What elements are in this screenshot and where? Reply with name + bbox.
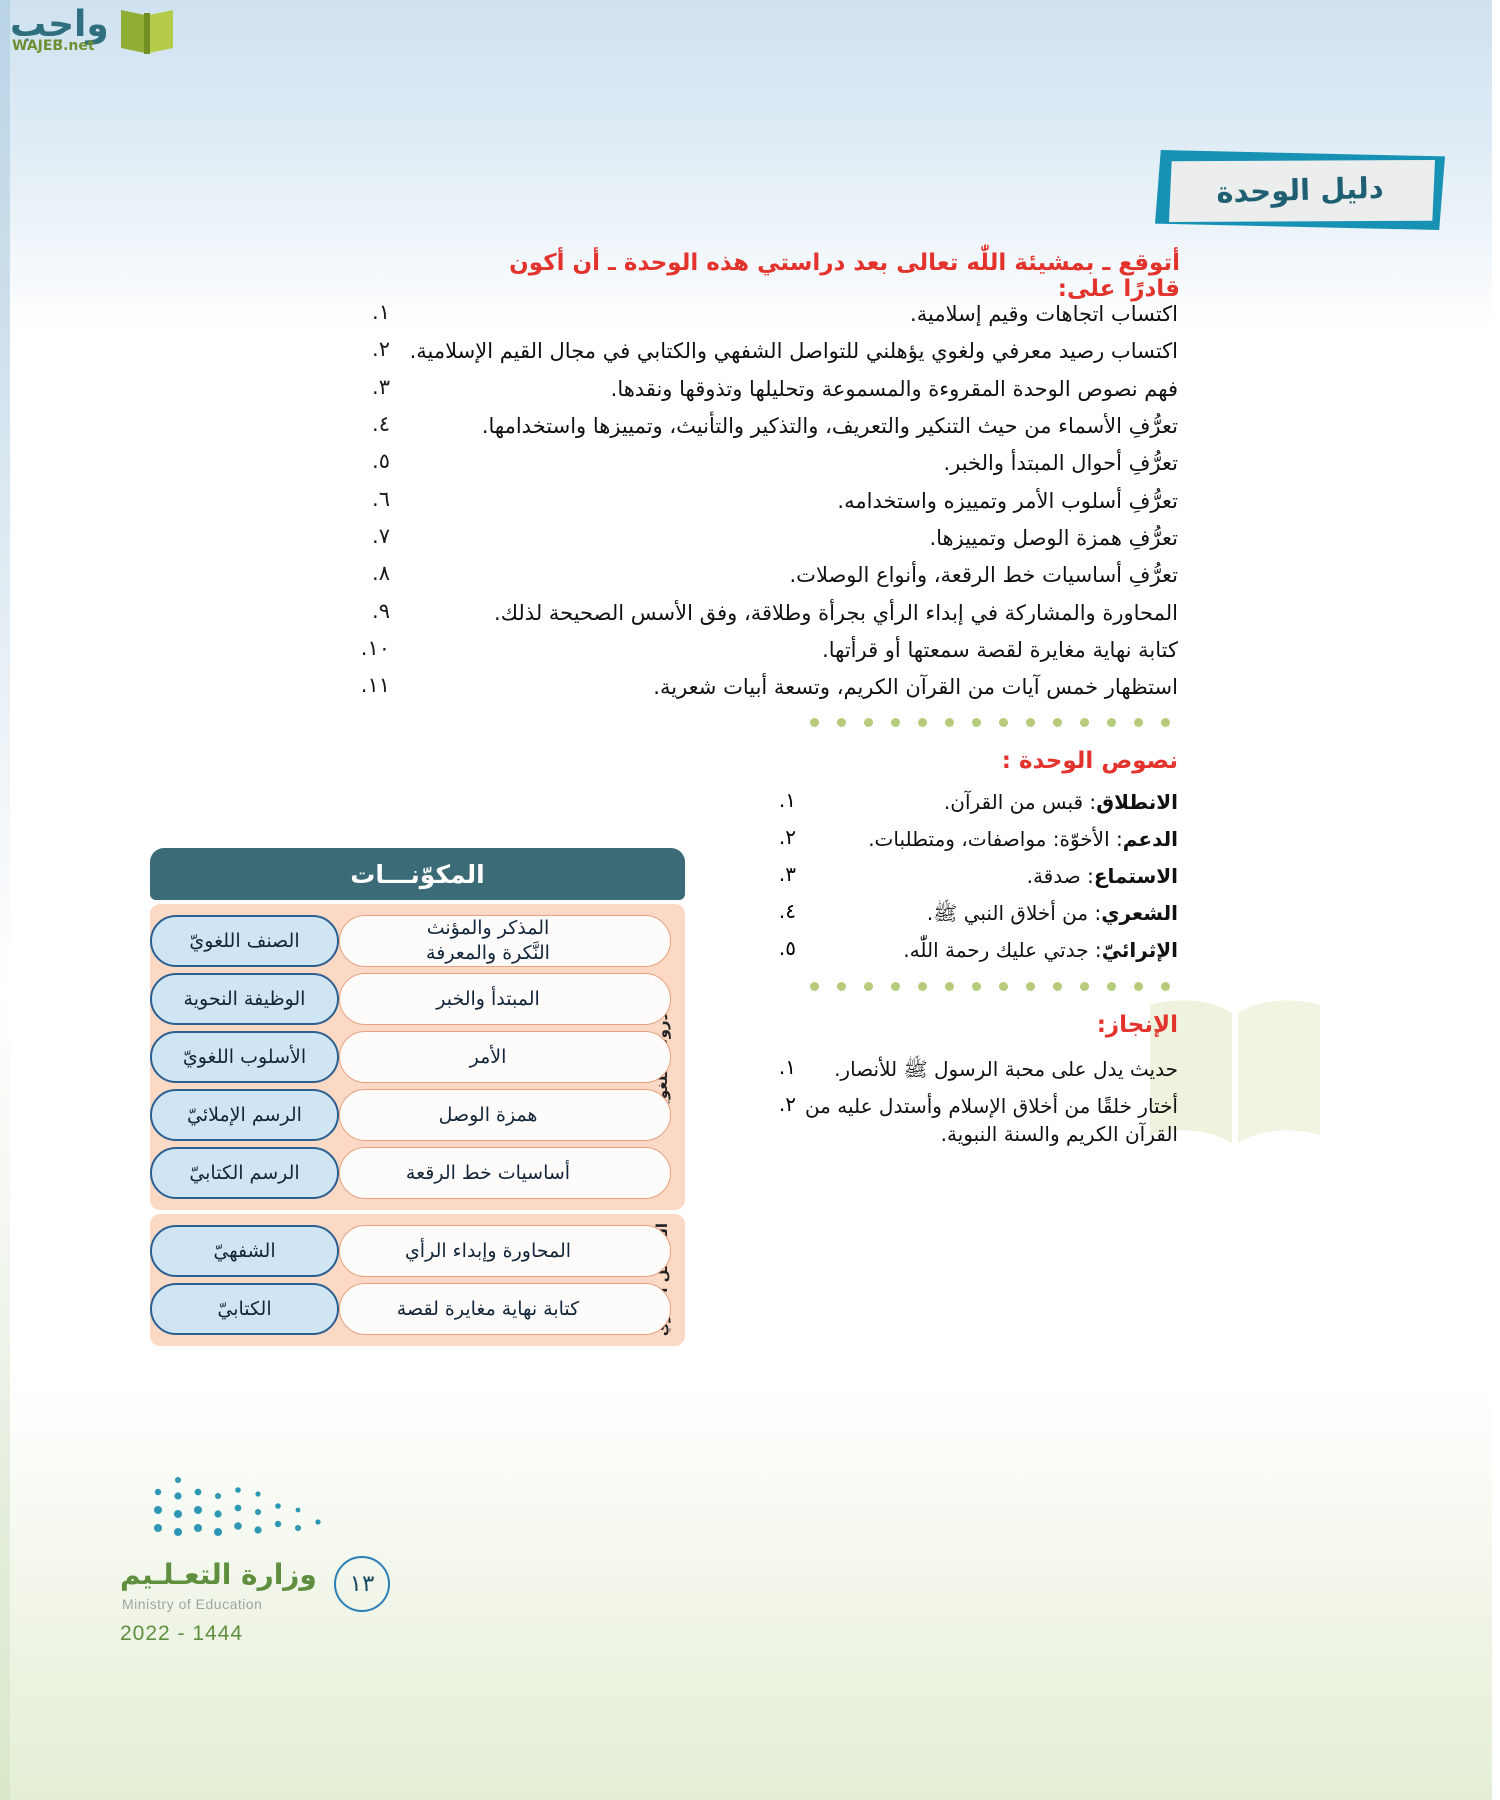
components-table-row: الصنف اللغويّالمذكر والمؤنثالنَّكرة والم… xyxy=(150,915,643,967)
component-detail-lines: أساسيات خط الرقعة xyxy=(406,1161,570,1186)
divider-dot xyxy=(1107,718,1116,727)
unit-text-number: ٢. xyxy=(758,825,796,849)
component-detail-line: المحاورة وإبداء الرأي xyxy=(405,1239,571,1264)
component-name-pill: الأسلوب اللغويّ xyxy=(150,1031,339,1083)
components-table-row: الشفهيّالمحاورة وإبداء الرأي xyxy=(150,1225,643,1277)
component-name-pill: الكتابيّ xyxy=(150,1283,339,1335)
unit-text-number: ٤. xyxy=(758,899,796,923)
component-detail-lines: كتابة نهاية مغايرة لقصة xyxy=(397,1297,579,1322)
divider-dot xyxy=(891,982,900,991)
achievement-text: أختار خلقًا من أخلاق الإسلام وأستدل عليه… xyxy=(796,1092,1178,1148)
components-group-rows: الصنف اللغويّالمذكر والمؤنثالنَّكرة والم… xyxy=(150,904,685,1210)
component-name-pill: الوظيفة النحوية xyxy=(150,973,339,1025)
components-group-rows: الشفهيّالمحاورة وإبداء الرأيالكتابيّكتاب… xyxy=(150,1214,685,1346)
divider-dot xyxy=(1161,982,1170,991)
divider-dot xyxy=(810,982,819,991)
objective-item: ٣.فهم نصوص الوحدة المقروءة والمسموعة وتح… xyxy=(348,375,1178,403)
wajeb-watermark-logo: واجب WAJEB.net xyxy=(0,0,185,62)
objective-text: اكتساب اتجاهات وقيم إسلامية. xyxy=(390,300,1178,328)
unit-guide-banner: دليل الوحدة xyxy=(1155,150,1445,230)
component-detail-lines: الأمر xyxy=(470,1045,507,1070)
unit-texts-list: ١.الانطلاق: قبس من القرآن.٢.الدعم: الأخو… xyxy=(758,788,1178,973)
divider-dot xyxy=(1026,982,1035,991)
divider-dot xyxy=(972,982,981,991)
ministry-name-arabic: وزارة التعـلـيم xyxy=(120,1558,317,1591)
component-detail-line: أساسيات خط الرقعة xyxy=(406,1161,570,1186)
divider-dot xyxy=(918,982,927,991)
unit-text-label: الدعم xyxy=(1123,827,1178,851)
components-table-header: المكوّنـــات xyxy=(150,848,685,900)
objective-text: تعرُّفِ أسلوب الأمر وتمييزه واستخدامه. xyxy=(390,487,1178,515)
component-detail-pill: الأمر xyxy=(339,1031,671,1083)
unit-text-content: الشعري: من أخلاق النبي ﷺ. xyxy=(796,899,1178,927)
unit-text-item: ٤.الشعري: من أخلاق النبي ﷺ. xyxy=(758,899,1178,927)
objective-number: ١٠. xyxy=(348,636,390,660)
unit-text-item: ٥.الإثرائيّ: جدتي عليك رحمة اللّٰه. xyxy=(758,936,1178,964)
achievement-title: الإنجاز: xyxy=(778,1012,1178,1038)
objective-number: ٢. xyxy=(348,337,390,361)
components-group: الشفهيّالمحاورة وإبداء الرأيالكتابيّكتاب… xyxy=(150,1214,685,1346)
divider-dot xyxy=(1134,982,1143,991)
unit-text-number: ١. xyxy=(758,788,796,812)
component-name-pill: الشفهيّ xyxy=(150,1225,339,1277)
divider-dot xyxy=(945,982,954,991)
unit-text-description: من أخلاق النبي ﷺ. xyxy=(927,901,1088,925)
unit-text-item: ٢.الدعم: الأخوّة: مواصفات، ومتطلبات. xyxy=(758,825,1178,853)
unit-text-item: ١.الانطلاق: قبس من القرآن. xyxy=(758,788,1178,816)
component-name-pill: الصنف اللغويّ xyxy=(150,915,339,967)
component-detail-lines: همزة الوصل xyxy=(439,1103,538,1128)
component-name-pill: الرسم الإملائيّ xyxy=(150,1089,339,1141)
objective-number: ١١. xyxy=(348,673,390,697)
achievement-item: ٢.أختار خلقًا من أخلاق الإسلام وأستدل عل… xyxy=(758,1092,1178,1148)
divider-dot xyxy=(837,718,846,727)
unit-text-content: الاستماع: صدقة. xyxy=(796,862,1178,890)
divider-dot xyxy=(864,718,873,727)
objective-number: ٣. xyxy=(348,375,390,399)
objective-item: ٤.تعرُّفِ الأسماء من حيث التنكير والتعري… xyxy=(348,412,1178,440)
component-detail-pill: أساسيات خط الرقعة xyxy=(339,1147,671,1199)
component-detail-pill: همزة الوصل xyxy=(339,1089,671,1141)
objective-text: تعرُّفِ أحوال المبتدأ والخبر. xyxy=(390,449,1178,477)
components-table-body: الصنف اللغويّالمذكر والمؤنثالنَّكرة والم… xyxy=(150,904,685,1346)
divider-dot xyxy=(945,718,954,727)
objectives-list: ١.اكتساب اتجاهات وقيم إسلامية.٢.اكتساب ر… xyxy=(348,300,1178,711)
objective-item: ٨.تعرُّفِ أساسيات خط الرقعة، وأنواع الوص… xyxy=(348,561,1178,589)
book-icon xyxy=(118,6,176,56)
objective-number: ٤. xyxy=(348,412,390,436)
objective-item: ٥.تعرُّفِ أحوال المبتدأ والخبر. xyxy=(348,449,1178,477)
divider-dot xyxy=(999,718,1008,727)
component-detail-lines: المذكر والمؤنثالنَّكرة والمعرفة xyxy=(426,916,550,965)
objective-number: ١. xyxy=(348,300,390,324)
divider-dot xyxy=(1053,982,1062,991)
page-footer: وزارة التعـلـيم Ministry of Education 20… xyxy=(90,1470,420,1650)
objective-number: ٥. xyxy=(348,449,390,473)
unit-text-description: صدقة. xyxy=(1027,864,1081,888)
ministry-name-english: Ministry of Education xyxy=(122,1596,262,1612)
achievement-number: ٢. xyxy=(758,1092,796,1116)
objective-text: استظهار خمس آيات من القرآن الكريم، وتسعة… xyxy=(390,673,1178,701)
unit-text-description: الأخوّة: مواصفات، ومتطلبات. xyxy=(868,827,1109,851)
components-table-row: الوظيفة النحويةالمبتدأ والخبر xyxy=(150,973,643,1025)
edition-year: 2022 - 1444 xyxy=(120,1622,243,1646)
divider-dot xyxy=(999,982,1008,991)
wajeb-watermark-net: WAJEB.net xyxy=(12,38,95,54)
unit-texts-title: نصوص الوحدة : xyxy=(778,748,1178,774)
objective-item: ٢.اكتساب رصيد معرفي ولغوي يؤهلني للتواصل… xyxy=(348,337,1178,365)
component-detail-lines: المبتدأ والخبر xyxy=(436,987,540,1012)
divider-dot xyxy=(1134,718,1143,727)
components-table-row: الرسم الإملائيّهمزة الوصل xyxy=(150,1089,643,1141)
objective-text: كتابة نهاية مغايرة لقصة سمعتها أو قرأتها… xyxy=(390,636,1178,664)
unit-text-label: الشعري xyxy=(1101,901,1178,925)
component-detail-pill: المذكر والمؤنثالنَّكرة والمعرفة xyxy=(339,915,671,967)
unit-text-content: الإثرائيّ: جدتي عليك رحمة اللّٰه. xyxy=(796,936,1178,964)
divider-dot xyxy=(810,718,819,727)
dotted-divider-top xyxy=(810,718,1175,728)
component-detail-line: المبتدأ والخبر xyxy=(436,987,540,1012)
objective-text: تعرُّفِ همزة الوصل وتمييزها. xyxy=(390,524,1178,552)
component-detail-line: الأمر xyxy=(470,1045,507,1070)
left-edge-gradient xyxy=(0,0,10,1800)
unit-text-content: الدعم: الأخوّة: مواصفات، ومتطلبات. xyxy=(796,825,1178,853)
component-detail-line: همزة الوصل xyxy=(439,1103,538,1128)
objective-item: ١.اكتساب اتجاهات وقيم إسلامية. xyxy=(348,300,1178,328)
objective-number: ٦. xyxy=(348,487,390,511)
divider-dot xyxy=(1161,718,1170,727)
unit-text-item: ٣.الاستماع: صدقة. xyxy=(758,862,1178,890)
divider-dot xyxy=(1026,718,1035,727)
components-group: الصنف اللغويّالمذكر والمؤنثالنَّكرة والم… xyxy=(150,904,685,1210)
banner-title: دليل الوحدة xyxy=(1154,146,1446,234)
components-table: المكوّنـــات الصنف اللغويّالمذكر والمؤنث… xyxy=(150,848,685,1346)
unit-text-content: الانطلاق: قبس من القرآن. xyxy=(796,788,1178,816)
components-table-row: الرسم الكتابيّأساسيات خط الرقعة xyxy=(150,1147,643,1199)
objective-item: ٩.المحاورة والمشاركة في إبداء الرأي بجرأ… xyxy=(348,599,1178,627)
unit-text-label: الإثرائيّ xyxy=(1102,938,1178,962)
component-detail-line: كتابة نهاية مغايرة لقصة xyxy=(397,1297,579,1322)
objective-text: اكتساب رصيد معرفي ولغوي يؤهلني للتواصل ا… xyxy=(390,337,1178,365)
unit-text-number: ٥. xyxy=(758,936,796,960)
divider-dot xyxy=(1053,718,1062,727)
objective-number: ٩. xyxy=(348,599,390,623)
component-detail-lines: المحاورة وإبداء الرأي xyxy=(405,1239,571,1264)
achievement-list: ١.حديث يدل على محبة الرسول ﷺ للأنصار.٢.أ… xyxy=(758,1055,1178,1157)
unit-text-description: جدتي عليك رحمة اللّٰه. xyxy=(903,938,1088,962)
divider-dot xyxy=(1080,982,1089,991)
objective-text: فهم نصوص الوحدة المقروءة والمسموعة وتحلي… xyxy=(390,375,1178,403)
unit-text-description: قبس من القرآن. xyxy=(944,790,1083,814)
page-number: ١٣ xyxy=(334,1556,390,1612)
divider-dot xyxy=(972,718,981,727)
objective-text: تعرُّفِ أساسيات خط الرقعة، وأنواع الوصلا… xyxy=(390,561,1178,589)
components-table-row: الأسلوب اللغويّالأمر xyxy=(150,1031,643,1083)
divider-dot xyxy=(864,982,873,991)
right-edge-strip xyxy=(1492,0,1500,1800)
textbook-page: واجب WAJEB.net دليل الوحدة أتوقع ـ بمشيئ… xyxy=(0,0,1500,1800)
decorative-dot-grid xyxy=(150,1470,340,1545)
divider-dot xyxy=(1107,982,1116,991)
component-detail-pill: المبتدأ والخبر xyxy=(339,973,671,1025)
dotted-divider-bottom xyxy=(810,982,1175,992)
achievement-item: ١.حديث يدل على محبة الرسول ﷺ للأنصار. xyxy=(758,1055,1178,1083)
component-detail-line: المذكر والمؤنث xyxy=(426,916,550,941)
objective-number: ٧. xyxy=(348,524,390,548)
objective-item: ٦.تعرُّفِ أسلوب الأمر وتمييزه واستخدامه. xyxy=(348,487,1178,515)
component-detail-pill: المحاورة وإبداء الرأي xyxy=(339,1225,671,1277)
objective-item: ١٠.كتابة نهاية مغايرة لقصة سمعتها أو قرأ… xyxy=(348,636,1178,664)
component-detail-pill: كتابة نهاية مغايرة لقصة xyxy=(339,1283,671,1335)
objective-text: تعرُّفِ الأسماء من حيث التنكير والتعريف،… xyxy=(390,412,1178,440)
objective-text: المحاورة والمشاركة في إبداء الرأي بجرأة … xyxy=(390,599,1178,627)
component-detail-line: النَّكرة والمعرفة xyxy=(426,941,550,966)
components-table-row: الكتابيّكتابة نهاية مغايرة لقصة xyxy=(150,1283,643,1335)
unit-text-label: الاستماع xyxy=(1094,864,1178,888)
objectives-heading: أتوقع ـ بمشيئة اللّٰه تعالى بعد دراستي ه… xyxy=(460,250,1180,302)
divider-dot xyxy=(918,718,927,727)
divider-dot xyxy=(1080,718,1089,727)
unit-text-label: الانطلاق xyxy=(1096,790,1178,814)
achievement-number: ١. xyxy=(758,1055,796,1079)
objective-item: ١١.استظهار خمس آيات من القرآن الكريم، وت… xyxy=(348,673,1178,701)
divider-dot xyxy=(891,718,900,727)
divider-dot xyxy=(837,982,846,991)
unit-text-number: ٣. xyxy=(758,862,796,886)
component-name-pill: الرسم الكتابيّ xyxy=(150,1147,339,1199)
achievement-text: حديث يدل على محبة الرسول ﷺ للأنصار. xyxy=(796,1055,1178,1083)
objective-number: ٨. xyxy=(348,561,390,585)
objective-item: ٧.تعرُّفِ همزة الوصل وتمييزها. xyxy=(348,524,1178,552)
